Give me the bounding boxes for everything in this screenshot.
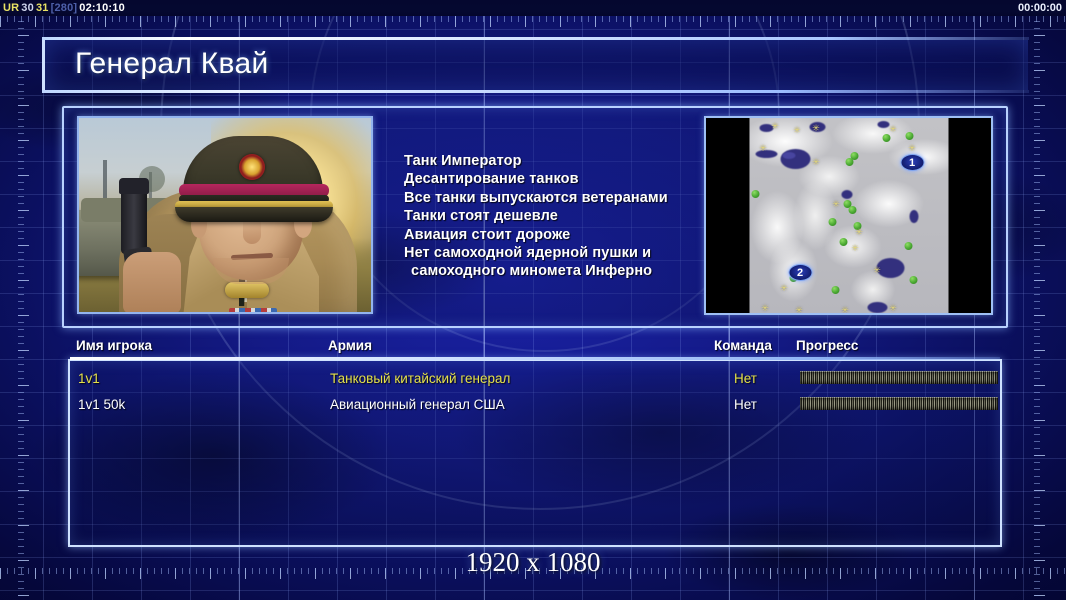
progress-bar: [800, 371, 998, 384]
net-value-a: 30: [20, 2, 35, 14]
cell-team: Нет: [734, 393, 757, 417]
player-table-header: Имя игрока Армия Команда Прогресс: [70, 338, 1000, 358]
description-line-4: Танки стоят дешевле: [404, 207, 734, 225]
column-header-progress: Прогресс: [796, 338, 858, 353]
frame-ruler-left: [18, 0, 32, 600]
minimap-resource-marker: ✳: [812, 124, 820, 132]
game-clock: 00:00:00: [1018, 1, 1062, 15]
column-header-player-name: Имя игрока: [76, 338, 152, 353]
minimap-tree: [848, 206, 856, 214]
minimap-water: [909, 210, 918, 223]
minimap[interactable]: ✳ ✳ ✳ ✳ ✳ ✳ ✳ ✳ ✳ ✳ ✳ ✳ ✳ ✳ ✳ ✳ 1 2: [704, 116, 993, 315]
minimap-tree: [905, 132, 913, 140]
minimap-water: [877, 121, 889, 128]
player-list-panel: 1v1 Танковый китайский генерал Нет 1v1 5…: [68, 359, 1002, 547]
description-line-6: Нет самоходной ядерной пушки и: [404, 244, 734, 262]
minimap-tree: [845, 158, 853, 166]
general-info-panel: Танк Император Десантирование танков Все…: [62, 106, 1008, 328]
progress-bar: [800, 397, 998, 410]
minimap-resource-marker: ✳: [780, 284, 788, 292]
minimap-tree: [882, 134, 890, 142]
minimap-tree: [839, 238, 847, 246]
minimap-resource-marker: ✳: [759, 144, 767, 152]
page-title: Генерал Квай: [75, 47, 269, 81]
description-line-2: Десантирование танков: [404, 170, 734, 188]
minimap-water: [841, 190, 852, 199]
minimap-start-position-1[interactable]: 1: [900, 154, 924, 171]
minimap-resource-marker: ✳: [873, 266, 881, 274]
minimap-resource-marker: ✳: [851, 244, 859, 252]
minimap-tree: [751, 190, 759, 198]
minimap-water: [782, 152, 795, 159]
cell-army: Танковый китайский генерал: [330, 367, 510, 391]
net-value-b: 31: [35, 2, 50, 14]
minimap-resource-marker: ✳: [889, 125, 897, 133]
general-hand: [123, 252, 181, 312]
general-ribbon-bar: [229, 308, 277, 312]
network-stats: UR3031[280]02:10:10: [2, 1, 126, 15]
minimap-water: [867, 302, 887, 313]
minimap-resource-marker: ✳: [771, 122, 779, 130]
minimap-terrain: ✳ ✳ ✳ ✳ ✳ ✳ ✳ ✳ ✳ ✳ ✳ ✳ ✳ ✳ ✳ ✳ 1 2: [749, 118, 948, 313]
cell-army: Авиационный генерал США: [330, 393, 505, 417]
minimap-resource-marker: ✳: [832, 200, 840, 208]
minimap-resource-marker: ✳: [761, 304, 769, 312]
general-portrait: [77, 116, 373, 314]
frame-ruler-top: [0, 16, 1066, 30]
general-cap-emblem-icon: [239, 154, 265, 180]
table-row[interactable]: 1v1 Танковый китайский генерал Нет: [70, 367, 1000, 391]
minimap-resource-marker: ✳: [841, 306, 849, 313]
minimap-resource-marker: ✳: [908, 144, 916, 152]
column-header-army: Армия: [328, 338, 372, 353]
minimap-resource-marker: ✳: [793, 126, 801, 134]
description-line-5: Авиация стоит дороже: [404, 226, 734, 244]
minimap-tree: [828, 218, 836, 226]
cell-player-name: 1v1: [78, 367, 100, 391]
minimap-resource-marker: ✳: [812, 158, 820, 166]
pistol-muzzle: [119, 178, 149, 194]
minimap-resource-marker: ✳: [889, 304, 897, 312]
minimap-resource-marker: ✳: [855, 228, 863, 236]
resolution-label: 1920 x 1080: [0, 547, 1066, 578]
cell-team: Нет: [734, 367, 757, 391]
header-divider: [70, 357, 1000, 360]
general-cap-visor: [175, 207, 333, 222]
minimap-tree: [909, 276, 917, 284]
minimap-tree: [904, 242, 912, 250]
portrait-artwork: [79, 118, 371, 312]
net-elapsed-time: 02:10:10: [78, 2, 126, 14]
cell-player-name: 1v1 50k: [78, 393, 125, 417]
title-panel: Генерал Квай: [42, 40, 1028, 90]
minimap-resource-marker: ✳: [795, 306, 803, 313]
pistol-slide: [121, 184, 147, 254]
net-label: UR: [2, 2, 20, 14]
description-line-7: самоходного миномета Инферно: [404, 262, 734, 280]
top-status-bar: UR3031[280]02:10:10 00:00:00: [0, 0, 1066, 16]
frame-ruler-right: [1034, 0, 1048, 600]
minimap-tree: [831, 286, 839, 294]
column-header-team: Команда: [714, 338, 772, 353]
description-line-1: Танк Император: [404, 152, 734, 170]
general-wing-badge: [225, 282, 269, 298]
net-bracket: [280]: [50, 2, 79, 14]
general-description: Танк Император Десантирование танков Все…: [404, 152, 734, 281]
minimap-start-position-2[interactable]: 2: [788, 264, 812, 281]
game-lobby-screen: UR3031[280]02:10:10 00:00:00 Генерал Ква…: [0, 0, 1066, 600]
table-row[interactable]: 1v1 50k Авиационный генерал США Нет: [70, 393, 1000, 417]
description-line-3: Все танки выпускаются ветеранами: [404, 189, 734, 207]
